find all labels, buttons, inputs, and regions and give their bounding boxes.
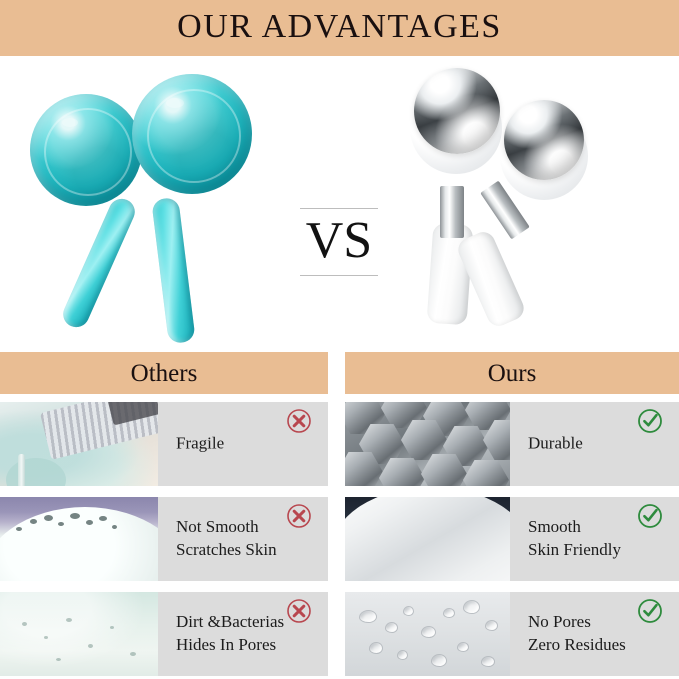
chrome-sphere-shape xyxy=(345,497,510,581)
ours-row-1-thumbnail xyxy=(345,402,510,486)
water-droplet xyxy=(385,622,398,633)
others-row-2-panel: Not Smooth Scratches Skin xyxy=(158,497,328,581)
globe-handle-shape xyxy=(18,454,25,486)
residue-speck xyxy=(130,652,136,656)
teal-ball-ring-right xyxy=(147,89,241,183)
teal-highlight-right xyxy=(166,98,184,108)
ours-row-2: Smooth Skin Friendly xyxy=(345,497,679,581)
check-icon xyxy=(637,503,663,529)
column-header-ours: Ours xyxy=(345,352,679,394)
page-title: OUR ADVANTAGES xyxy=(177,10,502,46)
sphere-dome-shape xyxy=(0,507,158,581)
hero-product-others xyxy=(0,56,290,350)
ours-row-1: Durable xyxy=(345,402,679,486)
others-row-3-text: Dirt &Bacterias Hides In Pores xyxy=(176,611,284,657)
water-droplet xyxy=(397,650,408,660)
water-droplet xyxy=(457,642,469,652)
residue-speck xyxy=(66,618,72,622)
vs-label: VS xyxy=(306,209,372,275)
hero-comparison: VS xyxy=(0,56,679,350)
comparison-rows: Fragile xyxy=(0,402,679,679)
others-row-2: Not Smooth Scratches Skin xyxy=(0,497,328,581)
residue-speck xyxy=(56,658,61,661)
water-droplet xyxy=(443,608,455,618)
column-header-others-label: Others xyxy=(131,361,198,386)
residue-speck xyxy=(110,626,114,629)
water-droplet xyxy=(463,600,480,614)
water-droplet xyxy=(481,656,495,667)
speck xyxy=(86,520,93,525)
speck xyxy=(30,519,37,524)
others-row-2-text: Not Smooth Scratches Skin xyxy=(176,516,277,562)
speck xyxy=(58,522,64,526)
residue-speck xyxy=(22,622,27,626)
polished-chrome-sphere-photo xyxy=(345,497,510,581)
foggy-plastic-globe-photo xyxy=(0,402,158,486)
check-icon xyxy=(637,408,663,434)
advantages-infographic: OUR ADVANTAGES xyxy=(0,0,679,679)
ours-row-2-text: Smooth Skin Friendly xyxy=(528,516,621,562)
residue-speck xyxy=(88,644,93,648)
ours-row-3-text: No Pores Zero Residues xyxy=(528,611,626,657)
cross-icon xyxy=(286,408,312,434)
speck xyxy=(99,516,107,521)
chrome-ball-right xyxy=(504,100,584,180)
speck xyxy=(16,527,22,531)
speck xyxy=(112,525,117,529)
water-droplet xyxy=(421,626,436,638)
ours-row-1-panel: Durable xyxy=(510,402,679,486)
teal-highlight-left xyxy=(62,118,78,127)
ours-row-2-panel: Smooth Skin Friendly xyxy=(510,497,679,581)
metal-hexagon-texture-photo xyxy=(345,402,510,486)
speck xyxy=(70,513,80,519)
water-droplet xyxy=(369,642,383,654)
water-droplet xyxy=(403,606,414,616)
water-droplets-on-steel-photo xyxy=(345,592,510,676)
residue-speck xyxy=(44,636,48,639)
others-row-1-thumbnail xyxy=(0,402,158,486)
speckled-rough-sphere-photo xyxy=(0,497,158,581)
check-icon xyxy=(637,598,663,624)
speck xyxy=(44,515,53,521)
chrome-ball-left xyxy=(414,68,500,154)
others-row-1: Fragile xyxy=(0,402,328,486)
others-row-3-thumbnail xyxy=(0,592,158,676)
cross-icon xyxy=(286,598,312,624)
water-droplet xyxy=(431,654,447,667)
ours-row-1-text: Durable xyxy=(528,433,583,456)
vs-rule-bottom xyxy=(300,275,378,276)
hero-product-ours xyxy=(390,56,679,350)
others-row-3-panel: Dirt &Bacterias Hides In Pores xyxy=(158,592,328,676)
water-droplet xyxy=(485,620,498,631)
ours-row-3: No Pores Zero Residues xyxy=(345,592,679,676)
teal-handle-right xyxy=(151,197,195,344)
chrome-neck-left xyxy=(440,186,464,238)
others-row-3: Dirt &Bacterias Hides In Pores xyxy=(0,592,328,676)
column-header-others: Others xyxy=(0,352,328,394)
ours-row-3-thumbnail xyxy=(345,592,510,676)
header-banner: OUR ADVANTAGES xyxy=(0,0,679,56)
teal-ball-ring-left xyxy=(44,108,132,196)
others-row-1-text: Fragile xyxy=(176,433,224,456)
vs-divider: VS xyxy=(296,196,382,288)
teal-handle-left xyxy=(59,195,139,332)
column-header-ours-label: Ours xyxy=(488,361,537,386)
ours-row-2-thumbnail xyxy=(345,497,510,581)
cross-icon xyxy=(286,503,312,529)
others-row-1-panel: Fragile xyxy=(158,402,328,486)
water-droplet xyxy=(359,610,377,623)
ours-row-3-panel: No Pores Zero Residues xyxy=(510,592,679,676)
fog-blob-shape xyxy=(6,458,66,486)
bacteria-residue-photo xyxy=(0,592,158,676)
others-row-2-thumbnail xyxy=(0,497,158,581)
